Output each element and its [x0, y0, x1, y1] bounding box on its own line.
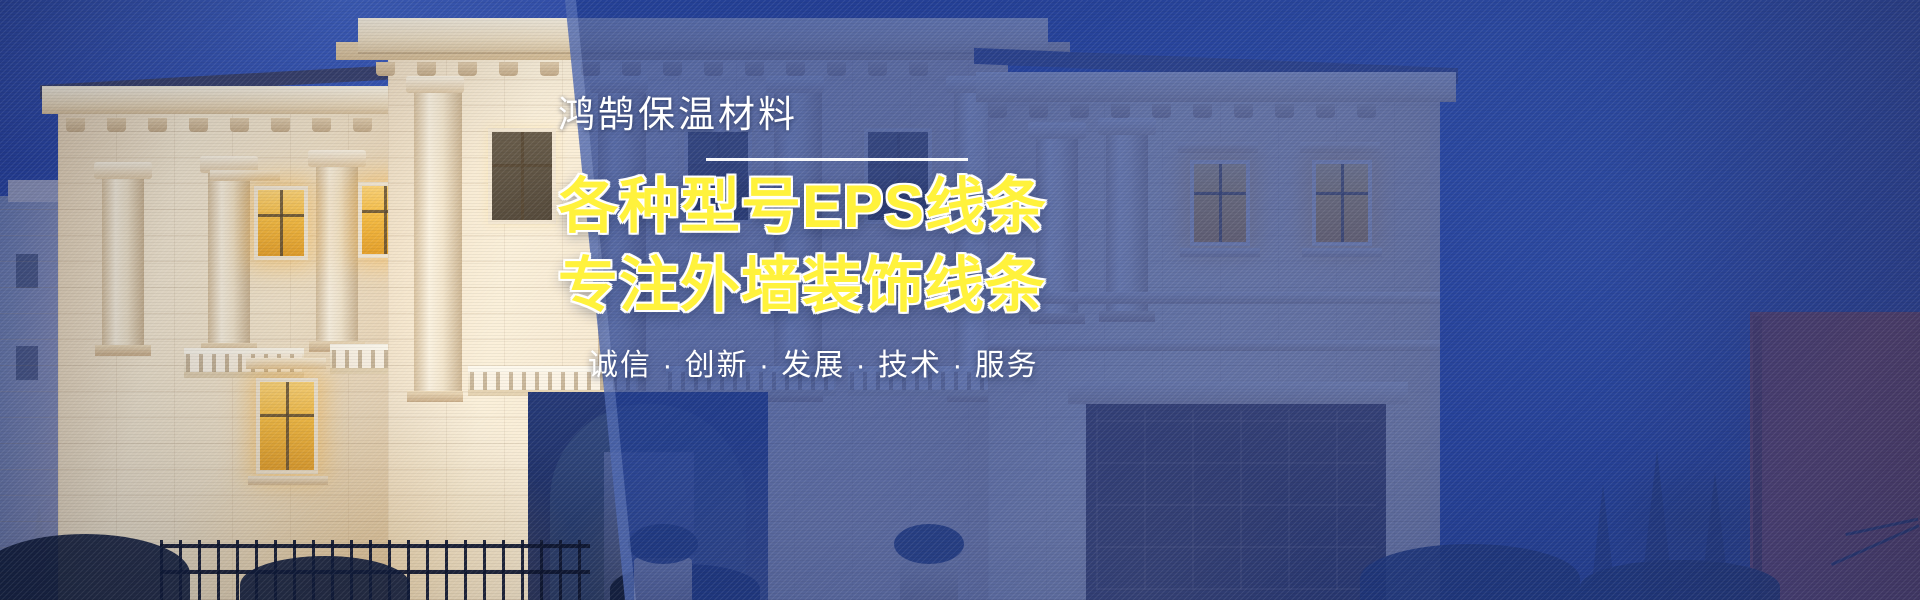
window: [16, 254, 38, 288]
window-mullion: [521, 132, 524, 220]
corbel: [1316, 104, 1335, 118]
corbel: [1234, 104, 1253, 118]
corbel: [622, 62, 641, 76]
window-lit: [1312, 160, 1372, 246]
left-wing-cornice: [42, 86, 434, 114]
title-divider: [706, 158, 968, 161]
banner-text-block: 鸿鹄保温材料 各种型号EPS线条 专注外墙装饰线条 诚信 · 创新 · 发展 ·…: [558, 96, 1078, 381]
corbel: [1357, 104, 1376, 118]
window-lit: [1190, 160, 1250, 246]
corbel: [353, 118, 372, 132]
corbel: [271, 118, 290, 132]
corbel: [827, 62, 846, 76]
column: [316, 166, 358, 342]
window-mullion: [258, 214, 304, 217]
corbel: [540, 62, 559, 76]
corbel: [148, 118, 167, 132]
planter: [900, 558, 958, 600]
window: [16, 346, 38, 380]
corbel: [704, 62, 723, 76]
tree-branch: [1845, 518, 1918, 536]
corbel: [909, 62, 928, 76]
corbel: [312, 118, 331, 132]
corbel-row: [376, 62, 928, 76]
company-name: 鸿鹄保温材料: [558, 96, 1078, 133]
hedge: [1580, 560, 1780, 600]
corbel: [745, 62, 764, 76]
window-header: [246, 358, 326, 369]
center-roof-cap: [358, 18, 1048, 52]
window-mullion: [1341, 164, 1344, 242]
window-mullion: [384, 186, 387, 254]
corbel: [1275, 104, 1294, 118]
headline-line-1: 各种型号EPS线条: [558, 174, 1078, 240]
hedge: [1360, 544, 1580, 600]
window-header: [1300, 142, 1380, 153]
corbel: [66, 118, 85, 132]
corbel: [786, 62, 805, 76]
corbel: [376, 62, 395, 76]
window-mullion: [492, 164, 552, 167]
window-sill: [1180, 248, 1260, 257]
corbel: [581, 62, 600, 76]
column: [102, 178, 144, 346]
corbel: [107, 118, 126, 132]
corbel: [1111, 104, 1130, 118]
corbel: [230, 118, 249, 132]
column: [1106, 134, 1148, 312]
hero-banner: 鸿鹄保温材料 各种型号EPS线条 专注外墙装饰线条 诚信 · 创新 · 发展 ·…: [0, 0, 1920, 600]
planter: [634, 558, 692, 600]
window-header: [1178, 142, 1258, 153]
corbel-row: [66, 118, 372, 132]
window-sill: [1302, 248, 1382, 257]
window-header: [210, 170, 280, 181]
window-mullion: [260, 414, 314, 417]
tree-branch: [1831, 524, 1920, 566]
corbel: [1193, 104, 1212, 118]
corbel: [189, 118, 208, 132]
foreground-landscape: [0, 450, 1920, 600]
window-lit: [254, 186, 308, 260]
window-mullion: [1194, 192, 1246, 195]
column: [414, 92, 462, 392]
window-mullion: [280, 190, 283, 256]
window-mullion: [1316, 192, 1368, 195]
window: [488, 128, 556, 224]
corbel: [1152, 104, 1171, 118]
slogan: 诚信 · 创新 · 发展 · 技术 · 服务: [588, 351, 1078, 381]
planter-bush: [628, 524, 698, 564]
column: [208, 172, 250, 344]
corbel: [417, 62, 436, 76]
corbel: [663, 62, 682, 76]
planter-bush: [894, 524, 964, 564]
corbel: [499, 62, 518, 76]
headline-line-2: 专注外墙装饰线条: [558, 253, 1078, 319]
garage-lintel: [1068, 382, 1408, 404]
corbel: [458, 62, 477, 76]
window-mullion: [1219, 164, 1222, 242]
corbel: [868, 62, 887, 76]
